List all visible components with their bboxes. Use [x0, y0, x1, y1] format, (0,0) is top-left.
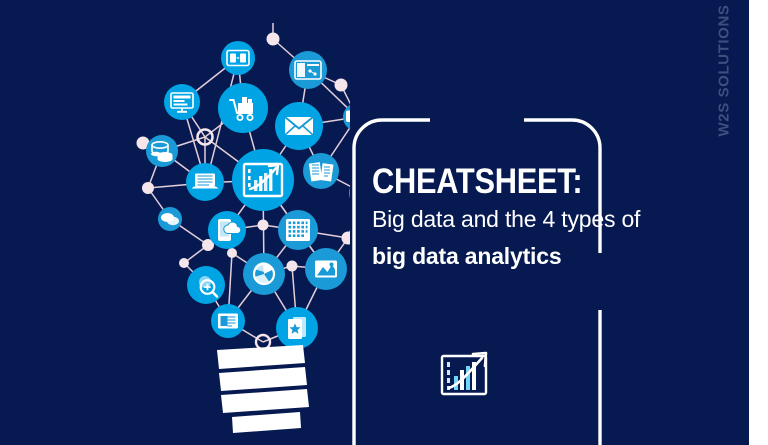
headline-line-2: big data analytics [372, 238, 702, 275]
bar-chart-growth-icon [438, 348, 500, 403]
poster-canvas: CHEATSHEET: Big data and the 4 types of … [0, 0, 768, 445]
headline-line-1: Big data and the 4 types of [372, 201, 702, 238]
brand-watermark: W2S SOLUTIONS [700, 0, 748, 200]
headline-kicker: CHEATSHEET: [372, 163, 662, 201]
headline-block: CHEATSHEET: Big data and the 4 types of … [372, 163, 702, 275]
lightbulb-network-artwork [60, 8, 350, 438]
brand-label: W2S SOLUTIONS [716, 5, 733, 137]
right-white-edge [749, 0, 768, 445]
